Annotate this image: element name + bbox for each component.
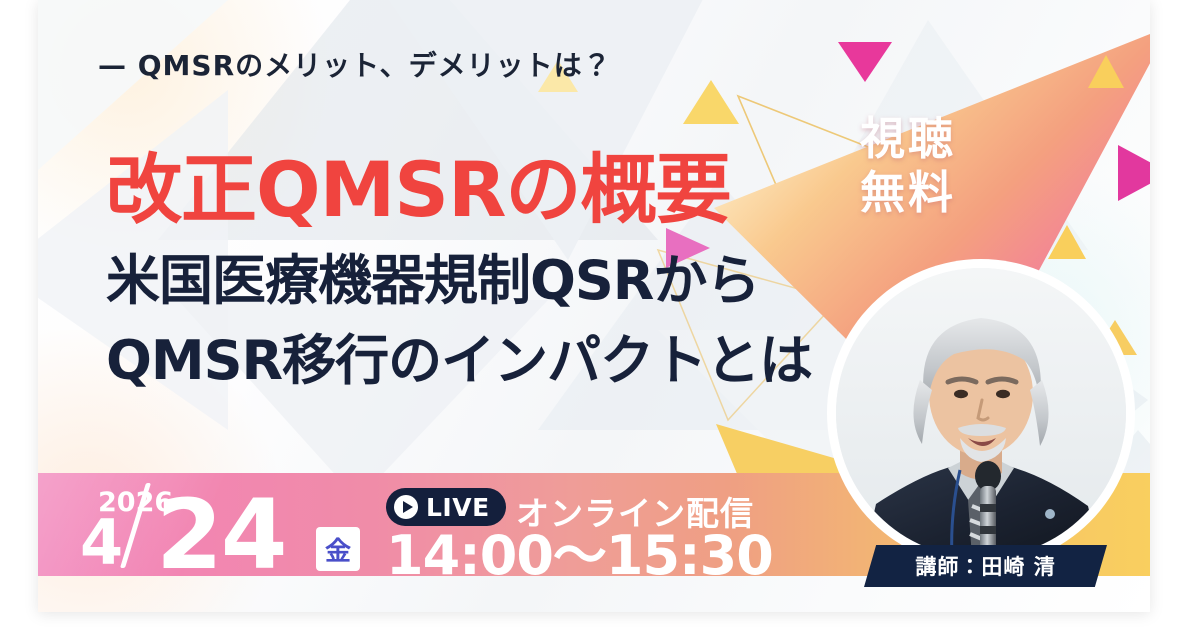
subtitle-line-2: QMSR移行のインパクトとは	[106, 332, 812, 390]
subtitle-line-1: 米国医療機器規制QSRから	[106, 252, 759, 310]
live-badge: LIVE	[386, 488, 506, 526]
page-title: 改正QMSRの概要	[106, 150, 731, 230]
event-month: 4	[80, 512, 123, 574]
accent-triangle-magenta	[838, 42, 892, 82]
live-label: LIVE	[426, 493, 490, 522]
accent-triangle-magenta	[1118, 145, 1150, 201]
speaker-name-ribbon: 講師：田崎 清	[864, 545, 1107, 587]
speaker-photo	[836, 268, 1126, 558]
accent-triangle-yellow	[1088, 55, 1124, 88]
banner-stage: 視聴 無料 — QMSRのメリット、デメリットは？ 改正QMSRの概要 米国医療…	[0, 0, 1200, 628]
eyebrow-text: — QMSRのメリット、デメリットは？	[98, 44, 612, 84]
free-badge-line-1: 視聴	[833, 112, 983, 166]
background-glow-top-left	[38, 0, 338, 280]
free-badge-line-2: 無料	[833, 166, 983, 220]
event-day: 24	[156, 487, 286, 583]
day-of-week-badge: 金	[316, 527, 360, 571]
accent-triangle-yellow	[683, 80, 739, 124]
speaker-avatar	[836, 268, 1126, 558]
free-viewing-badge: 視聴 無料	[833, 112, 983, 220]
play-icon	[394, 495, 418, 519]
webinar-banner-card: 視聴 無料 — QMSRのメリット、デメリットは？ 改正QMSRの概要 米国医療…	[38, 0, 1150, 612]
event-time-range: 14:00〜15:30	[386, 528, 773, 584]
accent-triangle-yellow	[1048, 225, 1086, 259]
